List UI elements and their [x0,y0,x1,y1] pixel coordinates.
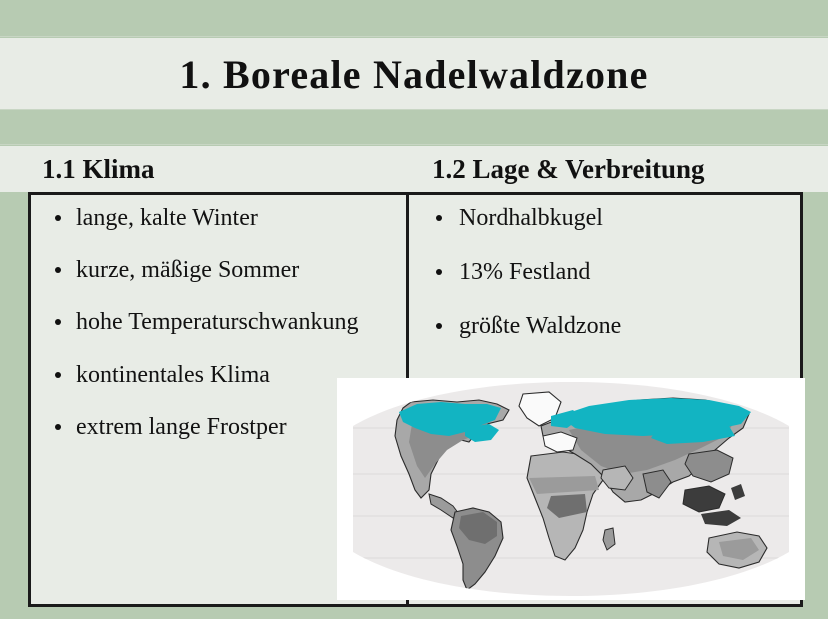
list-item-label: kontinentales Klima [76,362,270,388]
bullet-dot-icon [55,424,61,430]
slide-title: 1. Boreale Nadelwaldzone [0,38,828,110]
list-item-label: hohe Temperaturschwankung [76,309,358,335]
section-heading-klima: 1.1 Klima [42,146,155,192]
bullet-dot-icon [55,319,61,325]
bullet-dot-icon [55,372,61,378]
bullet-dot-icon [436,323,442,329]
world-map-image [337,378,805,600]
list-item-label: kurze, mäßige Sommer [76,257,299,283]
band-green-top [0,0,828,38]
list-item-label: Nordhalbkugel [459,205,603,231]
column-lage-verbreitung: Nordhalbkugel 13% Festland größte Waldzo… [409,195,803,366]
list-item-label: größte Waldzone [459,313,621,339]
bullet-dot-icon [55,215,61,221]
band-hairline-third [0,144,828,145]
list-item: hohe Temperaturschwankung [31,307,406,337]
bullet-dot-icon [436,269,442,275]
world-map-svg [337,378,805,600]
section-heading-lage-verbreitung: 1.2 Lage & Verbreitung [432,146,705,192]
bullet-list-lage: Nordhalbkugel 13% Festland größte Waldzo… [409,203,803,342]
list-item-label: 13% Festland [459,259,590,285]
map-globe [337,378,805,600]
section-heading-row: 1.1 Klima 1.2 Lage & Verbreitung [0,146,828,192]
list-item: Nordhalbkugel [409,203,803,233]
band-green-mid [0,110,828,146]
list-item-label: lange, kalte Winter [76,205,258,231]
list-item: kurze, mäßige Sommer [31,255,406,285]
list-item: größte Waldzone [409,311,803,341]
band-hairline-top [0,36,828,37]
bullet-dot-icon [436,215,442,221]
list-item: lange, kalte Winter [31,203,406,233]
list-item: 13% Festland [409,257,803,287]
bullet-dot-icon [55,267,61,273]
list-item-label: extrem lange Frostper [76,414,287,440]
